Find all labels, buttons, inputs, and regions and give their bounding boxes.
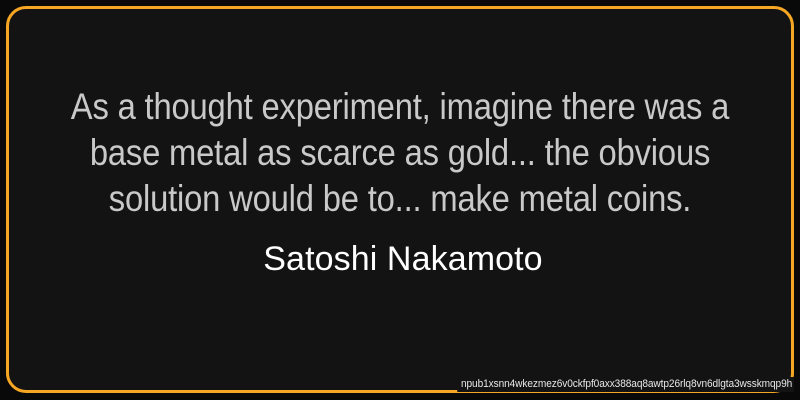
quote-author: Satoshi Nakamoto	[0, 238, 800, 280]
quote-card: As a thought experiment, imagine there w…	[0, 0, 800, 400]
card-content: As a thought experiment, imagine there w…	[0, 0, 800, 400]
npub-identifier[interactable]: npub1xsnn4wkezmez6v0ckfpf0axx388aq8awtp2…	[457, 377, 794, 392]
quote-text: As a thought experiment, imagine there w…	[50, 84, 751, 222]
